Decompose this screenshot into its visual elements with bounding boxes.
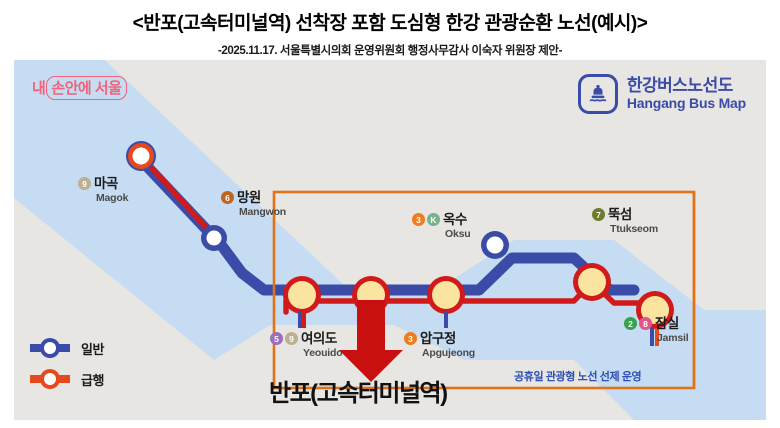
station-name-kr: 압구정 xyxy=(420,332,456,346)
banpo-callout-label: 반포(고속터미널역) xyxy=(269,373,447,408)
station-row-ttukseom: 7 뚝섬 xyxy=(592,208,658,222)
station-label-jamsil: 2 8 잠실 Jamsil xyxy=(624,317,689,343)
station-name-kr: 옥수 xyxy=(443,213,467,227)
seoul-logo-prefix: 내 xyxy=(32,80,45,97)
station-row-oksu: 3 K 옥수 xyxy=(412,213,470,227)
station-badges-apgujeong: 3 xyxy=(404,332,417,345)
station-row-jamsil: 2 8 잠실 xyxy=(624,317,689,331)
line-badge-k: K xyxy=(427,213,440,226)
station-label-oksu: 3 K 옥수 Oksu xyxy=(412,213,470,239)
station-badges-oksu: 3 K xyxy=(412,213,440,226)
line-badge-3: 3 xyxy=(412,213,425,226)
station-name-en: Apgujeong xyxy=(422,348,475,359)
line-badge-9: 9 xyxy=(285,332,298,345)
station-row-apgujeong: 3 압구정 xyxy=(404,332,475,346)
line-badge-8: 8 xyxy=(639,317,652,330)
page-title: <반포(고속터미널역) 선착장 포함 도심형 한강 관광순환 노선(예시)> xyxy=(0,8,780,35)
station-name-en: Oksu xyxy=(445,229,470,240)
legend-item-regular: 일반 xyxy=(28,337,104,359)
station-row-magok: 9 마곡 xyxy=(78,177,128,191)
station-row-mangwon: 6 망원 xyxy=(221,191,286,205)
seoul-logo-boxed: 손안에 서울 xyxy=(46,76,127,100)
ferry-boat-icon xyxy=(578,74,618,114)
line-badge-7: 7 xyxy=(592,208,605,221)
page-subtitle: -2025.11.17. 서울특별시의회 운영위원회 행정사무감사 이숙자 위원… xyxy=(0,42,780,58)
station-label-apgujeong: 3 압구정 Apgujeong xyxy=(404,332,475,358)
station-name-kr: 뚝섬 xyxy=(608,208,632,222)
seoul-brand-logo: 내손안에 서울 xyxy=(32,76,127,100)
han-river-band xyxy=(14,60,766,420)
station-name-en: Magok xyxy=(96,193,128,204)
ferry-boat-glyph xyxy=(586,82,610,106)
legend-label-regular: 일반 xyxy=(81,339,104,358)
station-name-kr: 마곡 xyxy=(94,177,118,191)
legend-regular-icon xyxy=(28,337,72,359)
station-name-kr: 망원 xyxy=(237,191,261,205)
legend-label-express: 급행 xyxy=(81,370,104,389)
station-name-en: Ttukseom xyxy=(610,224,658,235)
line-badge-3: 3 xyxy=(404,332,417,345)
hangang-bus-map-logo: 한강버스노선도 Hangang Bus Map xyxy=(578,74,746,114)
station-name-en: Mangwon xyxy=(239,207,286,218)
legend-item-express: 급행 xyxy=(28,368,104,390)
line-badge-9: 9 xyxy=(78,177,91,190)
route-map-svg xyxy=(14,60,766,420)
line-badge-2: 2 xyxy=(624,317,637,330)
station-badges-magok: 9 xyxy=(78,177,91,190)
hangang-logo-kr: 한강버스노선도 xyxy=(627,77,746,95)
line-badge-6: 6 xyxy=(221,191,234,204)
hangang-logo-text: 한강버스노선도 Hangang Bus Map xyxy=(627,77,746,110)
station-label-yeouido: 5 9 여의도 Yeouido xyxy=(270,332,342,358)
map-legend: 일반 급행 xyxy=(28,337,104,399)
station-name-en: Yeouido xyxy=(303,348,342,359)
station-label-magok: 9 마곡 Magok xyxy=(78,177,128,203)
station-name-en: Jamsil xyxy=(657,333,689,344)
station-name-kr: 여의도 xyxy=(301,332,337,346)
station-label-mangwon: 6 망원 Mangwon xyxy=(221,191,286,217)
line-badge-5: 5 xyxy=(270,332,283,345)
hangang-logo-en: Hangang Bus Map xyxy=(627,96,746,111)
station-badges-jamsil: 2 8 xyxy=(624,317,652,330)
station-badges-mangwon: 6 xyxy=(221,191,234,204)
station-name-kr: 잠실 xyxy=(655,317,679,331)
legend-express-icon xyxy=(28,368,72,390)
hangang-bus-route-map: 내손안에 서울 한강버스노선도 Hangang Bus Map 9 xyxy=(14,60,766,420)
station-badges-ttukseom: 7 xyxy=(592,208,605,221)
station-row-yeouido: 5 9 여의도 xyxy=(270,332,342,346)
station-badges-yeouido: 5 9 xyxy=(270,332,298,345)
poster-root: <반포(고속터미널역) 선착장 포함 도심형 한강 관광순환 노선(예시)> -… xyxy=(0,0,780,428)
holiday-route-note: 공휴일 관광형 노선 선제 운영 xyxy=(514,368,641,384)
station-label-ttukseom: 7 뚝섬 Ttukseom xyxy=(592,208,658,234)
